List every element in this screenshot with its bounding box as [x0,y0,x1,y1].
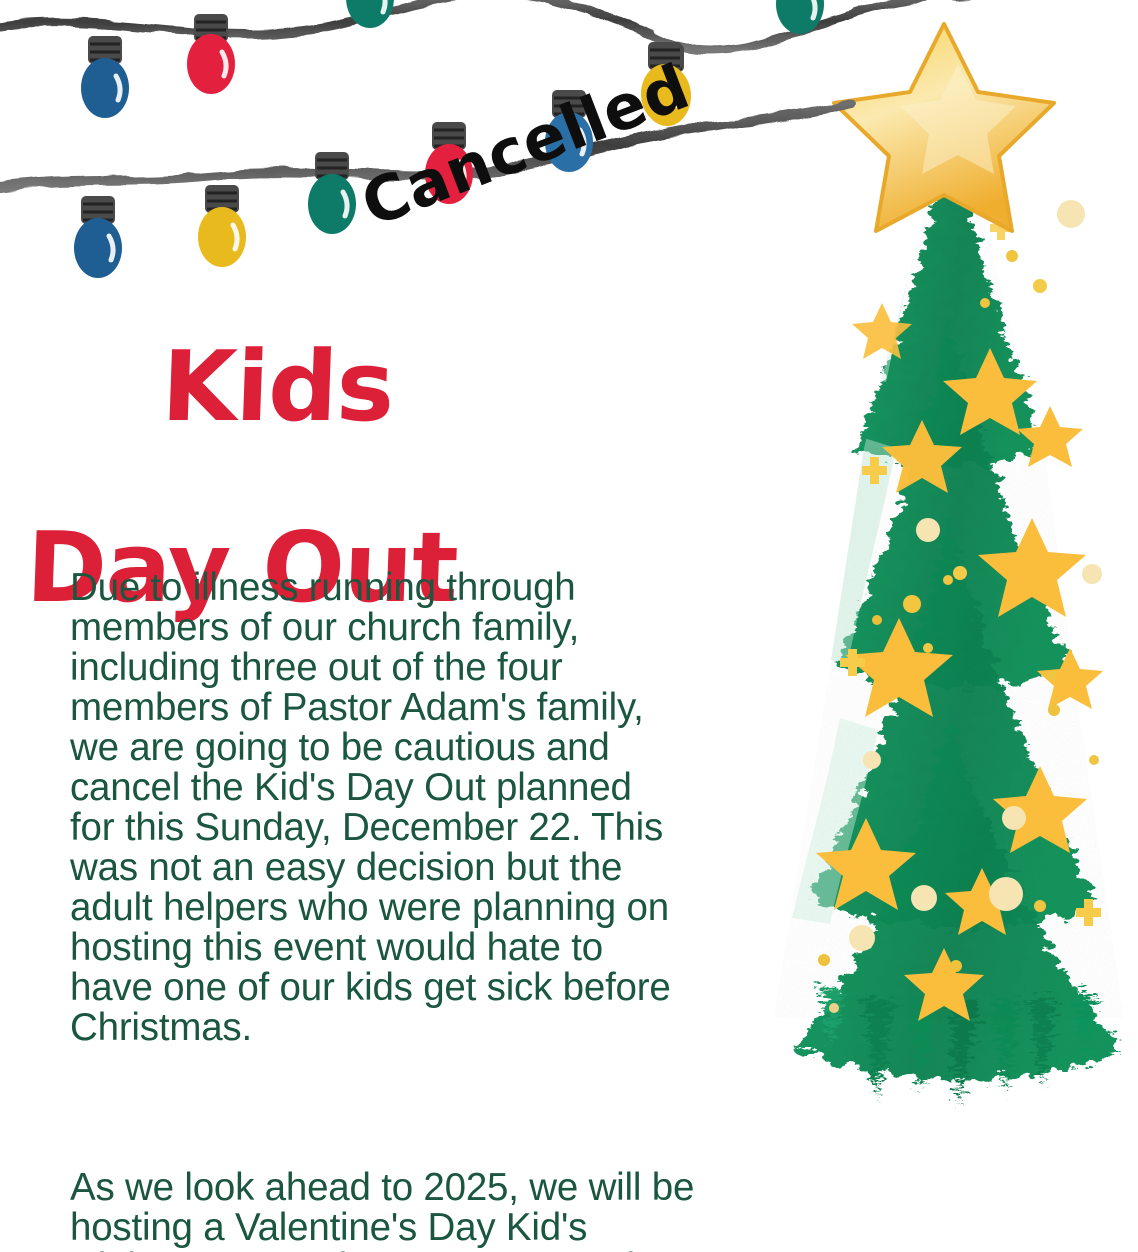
tree-dot-ornaments [818,200,1102,1013]
body-paragraph-1: Due to illness running through members o… [70,568,800,1048]
tree-highlights [792,198,922,924]
tree-bottom-fringe [820,986,1096,1106]
body-paragraph-2: As we look ahead to 2025, we will be hos… [70,1168,800,1252]
tree-foliage [794,128,1122,1079]
cancelled-stamp-text: Cancelled [352,50,699,241]
announcement-body: Due to illness running through members o… [70,528,800,1252]
paragraph-spacer [70,1088,800,1128]
christmas-tree-illustration [744,18,1138,1108]
bulb-teal-1 [346,0,394,28]
tree-topper-star-icon [834,24,1054,231]
headline-line-1: Kids [160,330,396,443]
tree-svg [744,18,1138,1108]
bulb-teal-3 [308,152,356,234]
bulb-blue-1 [81,36,129,118]
bulb-teal-2 [776,0,824,34]
tree-sparkle-icons [840,216,1101,926]
light-wire-upper [0,0,1030,51]
bulb-red-1 [187,14,235,94]
poster-canvas: Kids Day Out Cancelled Due to illness ru… [0,0,1138,1252]
tree-star-ornaments [816,303,1103,1021]
tree-texture [744,18,1138,1108]
